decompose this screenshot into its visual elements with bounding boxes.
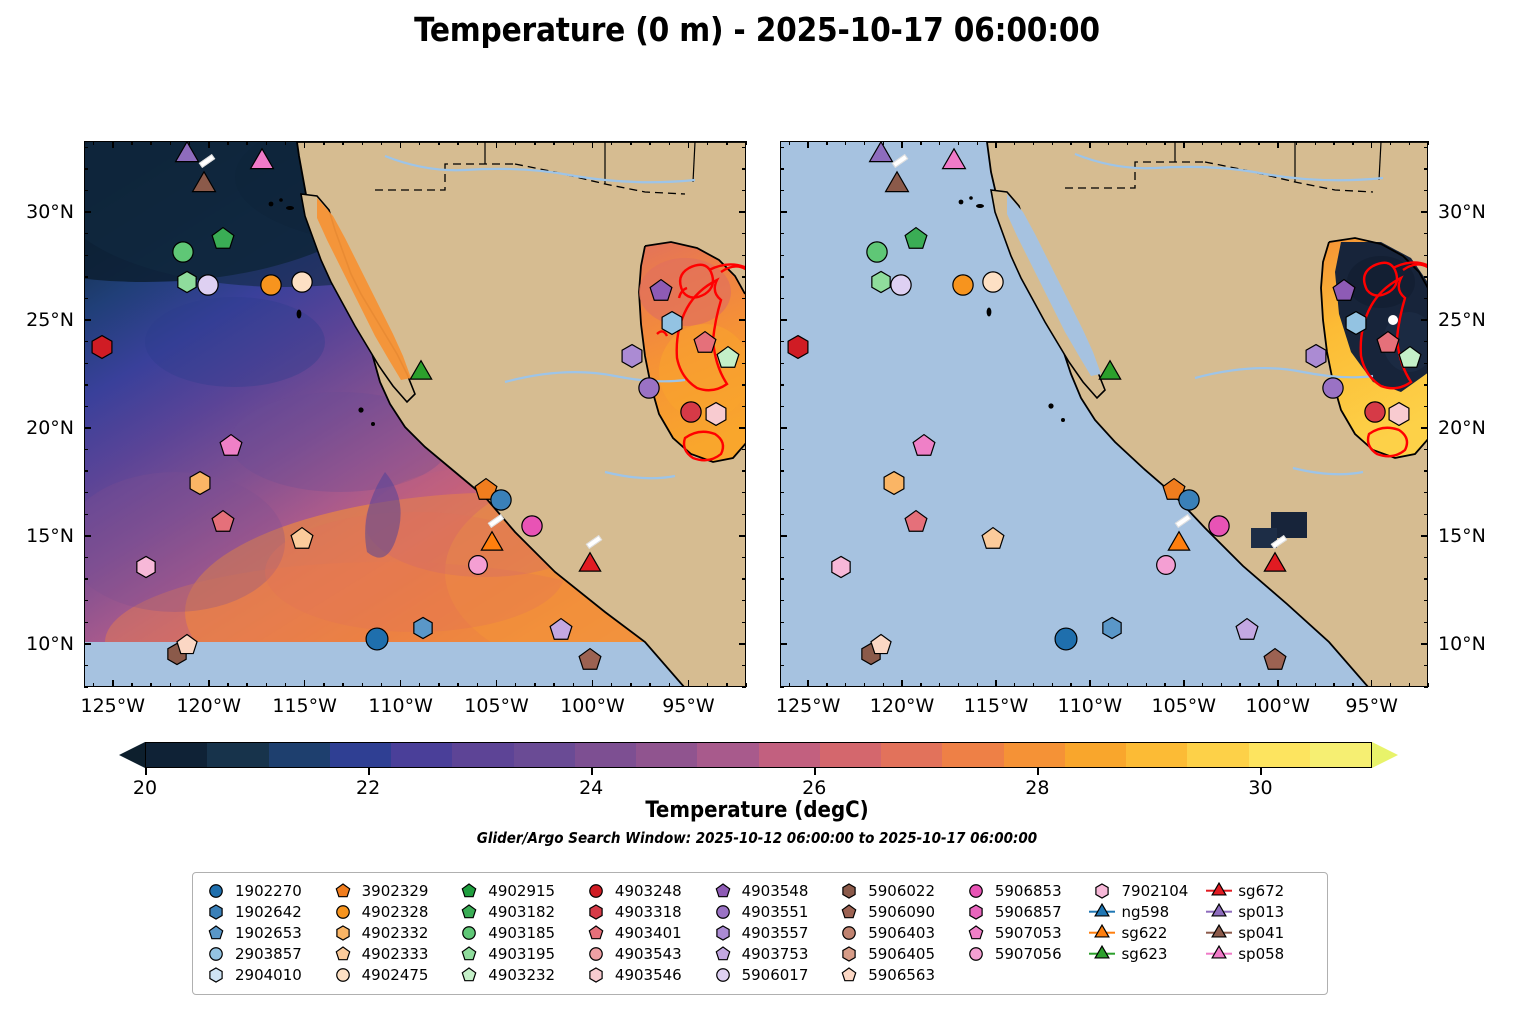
legend[interactable]: 1902270190264219026532903857290401039023… [192,872,1328,995]
observation-marker[interactable] [258,272,284,302]
legend-item[interactable]: 1902653 [203,923,330,942]
circle-marker-icon [1320,375,1346,401]
observation-marker[interactable] [363,625,391,657]
observation-marker[interactable] [715,345,741,375]
observation-marker[interactable] [939,147,969,181]
x-axis-minor-tick [1146,141,1147,145]
legend-item[interactable]: 5906403 [836,923,963,942]
observation-marker[interactable] [678,399,704,429]
x-axis-minor-tick [93,683,94,687]
observation-marker[interactable] [1261,551,1289,583]
legend-label: 5906403 [862,924,935,942]
y-axis-minor-tick [84,298,88,299]
x-axis-tick [688,680,690,687]
legend-item[interactable]: 4903551 [710,902,837,921]
colorbar-segment [391,743,452,767]
hexagon-marker-icon [659,310,685,336]
observation-marker[interactable] [980,269,1006,299]
x-axis-minor-tick [1315,683,1316,687]
x-axis-minor-tick [977,683,978,687]
hexagon-marker-icon [203,965,229,984]
observation-marker[interactable] [1100,616,1124,644]
observation-marker[interactable] [247,147,277,181]
x-axis-minor-tick [826,683,827,687]
legend-item[interactable]: 2904010 [203,965,330,984]
x-axis-minor-tick [419,683,420,687]
hexagon-marker-icon [1303,343,1329,369]
observation-marker[interactable] [218,433,244,463]
x-axis-minor-tick [789,141,790,145]
circle-marker-icon [488,487,514,513]
y-axis-minor-tick [780,449,784,450]
x-axis-minor-tick [1296,141,1297,145]
pentagon-marker-icon [548,617,574,643]
y-axis-tick [1421,211,1428,213]
legend-label: sg623 [1115,945,1167,963]
y-axis-tick [780,211,787,213]
colorbar-segment [759,743,820,767]
y-axis-minor-tick [84,147,88,148]
y-axis-minor-tick [1424,363,1428,364]
colorbar-segment [207,743,268,767]
x-axis-minor-tick [1352,141,1353,145]
triangle-marker-icon [1089,944,1115,963]
goes-map-canvas [781,142,1427,686]
x-axis-tick [1277,141,1279,148]
colorbar-tick-label: 24 [579,777,603,799]
legend-item[interactable]: 1902642 [203,902,330,921]
pentagon-marker-icon [1234,617,1260,643]
observation-marker[interactable] [577,647,603,677]
legend-item[interactable]: 4903753 [710,944,837,963]
legend-item[interactable]: 4903182 [456,902,583,921]
observation-marker[interactable] [411,616,435,644]
observation-marker[interactable] [195,272,221,302]
hexagon-marker-icon [203,902,229,921]
triangle-marker-icon [576,551,604,579]
x-axis-minor-tick [920,141,921,145]
x-axis-minor-tick [1258,683,1259,687]
x-axis-tick [1371,141,1373,148]
observation-marker[interactable] [1052,625,1080,657]
y-axis-minor-tick [742,168,746,169]
x-axis-minor-tick [1033,141,1034,145]
x-axis-minor-tick [246,141,247,145]
legend-item[interactable]: 4903548 [710,881,837,900]
x-axis-minor-tick [707,141,708,145]
legend-item[interactable]: 4902333 [330,944,457,963]
colorbar-segment [636,743,697,767]
x-axis-tick [304,141,306,148]
legend-item[interactable]: 4902475 [330,965,457,984]
observation-marker[interactable] [866,142,896,174]
legend-item[interactable]: 5906017 [710,965,837,984]
x-axis-minor-tick [515,141,516,145]
y-axis-minor-tick [742,255,746,256]
hexagon-marker-icon [1100,616,1124,640]
colorbar-segment [820,743,881,767]
observation-marker[interactable] [659,310,685,340]
y-axis-minor-tick [742,557,746,558]
x-axis-minor-tick [246,683,247,687]
y-axis-tick [1421,427,1428,429]
triangle-marker-icon [1165,530,1193,558]
x-axis-tick [1371,680,1373,687]
x-axis-minor-tick [920,683,921,687]
colorbar-segment [1249,743,1310,767]
observation-marker[interactable] [619,343,645,373]
legend-item[interactable]: 4903401 [583,923,710,942]
y-axis-minor-tick [1424,255,1428,256]
x-axis-minor-tick [285,683,286,687]
observation-marker[interactable] [576,551,604,583]
observation-marker[interactable] [210,226,236,256]
x-axis-minor-tick [1164,683,1165,687]
observation-marker[interactable] [488,487,514,517]
legend-item[interactable]: ng598 [1089,902,1206,921]
circle-marker-icon [203,944,229,963]
x-axis-tick [901,680,903,687]
legend-item[interactable]: 4902328 [330,902,457,921]
hexagon-marker-icon [1089,881,1115,900]
legend-label: 4903546 [609,966,682,984]
legend-item[interactable]: sg672 [1206,881,1317,900]
colorbar-body [145,742,1372,768]
x-axis-tick [688,141,690,148]
pentagon-marker-icon [715,345,741,371]
legend-item[interactable]: 4902332 [330,923,457,942]
observation-marker[interactable] [175,633,199,661]
legend-item[interactable]: sp041 [1206,923,1317,942]
y-axis-tick [84,211,91,213]
legend-item[interactable]: sp013 [1206,902,1317,921]
x-axis-minor-tick [1164,141,1165,145]
colorbar-segment [942,743,1003,767]
y-axis-minor-tick [84,470,88,471]
x-axis-minor-tick [534,141,535,145]
y-axis-minor-tick [780,276,784,277]
y-axis-minor-tick [84,557,88,558]
colorbar-title: Temperature (degC) [0,798,1514,823]
legend-label: 4903248 [609,882,682,900]
map-panel-rtofs[interactable]: RTOFS [84,141,746,687]
triangle-marker-icon [407,359,435,387]
legend-item[interactable]: 4902915 [456,881,583,900]
x-axis-minor-tick [864,683,865,687]
y-axis-minor-tick [780,255,784,256]
legend-item[interactable]: 3902329 [330,881,457,900]
legend-item[interactable]: 2903857 [203,944,330,963]
observation-marker[interactable] [1386,401,1412,431]
x-axis-minor-tick [883,683,884,687]
observation-marker[interactable] [519,513,545,543]
y-axis-tick [1421,643,1428,645]
legend-item[interactable]: sg622 [1089,923,1206,942]
triangle-marker-icon [1206,923,1232,942]
x-axis-minor-tick [745,141,746,145]
colorbar-segment [1187,743,1248,767]
y-axis-minor-tick [1424,578,1428,579]
colorbar-extend-high [1372,742,1398,768]
x-axis-minor-tick [1052,683,1053,687]
pentagon-marker-icon [456,881,482,900]
x-axis-minor-tick [323,683,324,687]
legend-item[interactable]: 4903318 [583,902,710,921]
pentagon-marker-icon [175,633,199,657]
legend-label: 4903548 [736,882,809,900]
x-axis-minor-tick [630,141,631,145]
observation-marker[interactable] [911,433,937,463]
x-axis-minor-tick [189,141,190,145]
x-axis-minor-tick [477,141,478,145]
observation-marker[interactable] [882,170,912,204]
observation-marker[interactable] [289,269,315,299]
legend-item[interactable]: 4903248 [583,881,710,900]
observation-marker[interactable] [881,470,907,500]
y-axis-minor-tick [1424,276,1428,277]
observation-marker[interactable] [187,470,213,500]
colorbar-segment [697,743,758,767]
x-axis-tick [995,141,997,148]
observation-marker[interactable] [210,509,236,539]
legend-item[interactable]: 5906853 [963,881,1090,900]
legend-label: 4903195 [482,945,555,963]
observation-marker[interactable] [189,170,219,204]
observation-marker[interactable] [1096,359,1124,391]
pentagon-marker-icon [710,944,736,963]
observation-marker[interactable] [1303,343,1329,373]
legend-item[interactable]: 5907056 [963,944,1090,963]
x-axis-minor-tick [1221,683,1222,687]
x-axis-minor-tick [726,683,727,687]
y-axis-minor-tick [1424,384,1428,385]
y-axis-minor-tick [742,600,746,601]
colorbar-segment [514,743,575,767]
legend-item[interactable]: 4903232 [456,965,583,984]
x-axis-minor-tick [362,141,363,145]
legend-item[interactable]: 4903195 [456,944,583,963]
colorbar-segment [1310,743,1371,767]
x-axis-minor-tick [477,683,478,687]
colorbar-tick-label: 26 [802,777,826,799]
y-axis-minor-tick [780,147,784,148]
observation-marker[interactable] [1320,375,1346,405]
x-axis-label: 95°W [1345,695,1397,717]
legend-item[interactable]: sg623 [1089,944,1206,963]
y-axis-minor-tick [780,665,784,666]
legend-label: 4902915 [482,882,555,900]
observation-marker[interactable] [903,226,929,256]
y-axis-minor-tick [1424,470,1428,471]
rtofs-sst-field [85,142,745,686]
x-axis-tick [400,141,402,148]
x-axis-minor-tick [1014,141,1015,145]
x-axis-minor-tick [1390,141,1391,145]
observation-marker[interactable] [1262,647,1288,677]
observation-marker[interactable] [1397,345,1423,375]
hexagon-marker-icon [330,923,356,942]
x-axis-minor-tick [1390,683,1391,687]
observation-marker[interactable] [888,272,914,302]
y-axis-minor-tick [742,341,746,342]
pentagon-marker-icon [1262,647,1288,673]
legend-item[interactable]: 1902270 [203,881,330,900]
y-axis-minor-tick [780,600,784,601]
circle-marker-icon [1052,625,1080,653]
legend-column-1: 39023294902328490233249023334902475 [330,881,457,984]
x-axis-minor-tick [864,141,865,145]
observation-marker[interactable] [703,401,729,431]
x-axis-tick [995,680,997,687]
legend-item[interactable]: 7902104 [1089,881,1206,900]
observation-marker[interactable] [869,633,893,661]
observation-marker[interactable] [478,530,506,562]
x-axis-tick [1277,680,1279,687]
x-axis-minor-tick [1409,141,1410,145]
y-axis-minor-tick [780,233,784,234]
x-axis-tick [496,680,498,687]
circle-marker-icon [1206,513,1232,539]
y-axis-minor-tick [84,384,88,385]
circle-marker-icon [710,902,736,921]
hexagon-marker-icon [583,902,609,921]
y-axis-tick [739,643,746,645]
x-axis-minor-tick [1409,683,1410,687]
legend-item[interactable]: 5906405 [836,944,963,963]
legend-item[interactable]: sp058 [1206,944,1317,963]
x-axis-minor-tick [419,141,420,145]
circle-marker-icon [678,399,704,425]
legend-item[interactable]: 4903185 [456,923,583,942]
legend-label: 5906853 [989,882,1062,900]
colorbar-segment [452,743,513,767]
legend-item[interactable]: 4903557 [710,923,837,942]
hexagon-marker-icon [134,555,158,579]
legend-label: 5906017 [736,966,809,984]
y-axis-minor-tick [1424,190,1428,191]
x-axis-tick [496,141,498,148]
y-axis-tick [84,643,91,645]
map-panel-goes[interactable]: GOES [780,141,1428,687]
x-axis-minor-tick [150,141,151,145]
x-axis-minor-tick [630,683,631,687]
observation-marker[interactable] [289,526,315,556]
x-axis-minor-tick [1014,683,1015,687]
circle-marker-icon [963,944,989,963]
pentagon-marker-icon [911,433,937,459]
legend-item[interactable]: 4903543 [583,944,710,963]
legend-item[interactable]: 5907053 [963,923,1090,942]
pentagon-marker-icon [583,923,609,942]
observation-marker[interactable] [785,334,811,364]
y-axis-label: 25°N [1438,309,1486,331]
circle-marker-icon [583,944,609,963]
x-axis-minor-tick [457,141,458,145]
observation-marker[interactable] [980,526,1006,556]
legend-label: 3902329 [356,882,429,900]
observation-marker[interactable] [1176,487,1202,517]
x-axis-minor-tick [845,683,846,687]
search-window-text: Glider/Argo Search Window: 2025-10-12 06… [0,829,1514,847]
legend-label: sg672 [1232,882,1284,900]
colorbar-segment [1126,743,1187,767]
legend-item[interactable]: 5906022 [836,881,963,900]
observation-marker[interactable] [636,375,662,405]
x-axis-minor-tick [1202,683,1203,687]
observation-marker[interactable] [172,142,202,174]
circle-marker-icon [363,625,391,653]
circle-marker-icon [330,965,356,984]
legend-item[interactable]: 5906857 [963,902,1090,921]
x-axis-minor-tick [1427,141,1428,145]
colorbar-segment [330,743,391,767]
x-axis-tick [807,680,809,687]
x-axis-tick [1089,141,1091,148]
colorbar-tick-label: 20 [133,777,157,799]
y-axis-minor-tick [84,341,88,342]
y-axis-tick [739,427,746,429]
observation-marker[interactable] [1206,513,1232,543]
hexagon-marker-icon [411,616,435,640]
legend-label: 4903401 [609,924,682,942]
x-axis-minor-tick [826,141,827,145]
observation-marker[interactable] [864,239,890,269]
observation-marker[interactable] [134,555,158,583]
y-axis-minor-tick [742,686,746,687]
y-axis-minor-tick [780,384,784,385]
observation-marker[interactable] [829,555,853,583]
y-axis-minor-tick [780,686,784,687]
observation-marker[interactable] [89,334,115,364]
colorbar[interactable]: 202224262830 [119,742,1398,768]
legend-item[interactable]: 4903546 [583,965,710,984]
observation-marker[interactable] [548,617,574,647]
y-axis-minor-tick [742,147,746,148]
colorbar-segment [1004,743,1065,767]
observation-marker[interactable] [1331,278,1357,308]
pentagon-marker-icon [218,433,244,459]
x-axis-minor-tick [534,683,535,687]
pentagon-marker-icon [1331,278,1357,304]
x-axis-minor-tick [285,141,286,145]
pentagon-marker-icon [963,923,989,942]
observation-marker[interactable] [1343,310,1369,340]
observation-marker[interactable] [1165,530,1193,562]
legend-item[interactable]: 5906563 [836,965,963,984]
pentagon-marker-icon [648,278,674,304]
x-axis-minor-tick [1258,141,1259,145]
goes-sst-field [781,142,1427,686]
observation-marker[interactable] [170,239,196,269]
observation-marker[interactable] [950,272,976,302]
y-axis-minor-tick [780,363,784,364]
y-axis-minor-tick [742,276,746,277]
legend-item[interactable]: 5906090 [836,902,963,921]
observation-marker[interactable] [903,509,929,539]
y-axis-label: 20°N [0,417,74,439]
x-axis-minor-tick [939,683,940,687]
y-axis-minor-tick [742,514,746,515]
observation-marker[interactable] [1362,399,1388,429]
observation-marker[interactable] [648,278,674,308]
observation-marker[interactable] [407,359,435,391]
legend-column-2: 49029154903182490318549031954903232 [456,881,583,984]
x-axis-minor-tick [611,141,612,145]
y-axis-minor-tick [780,470,784,471]
x-axis-minor-tick [649,141,650,145]
x-axis-minor-tick [573,141,574,145]
observation-marker[interactable] [1234,617,1260,647]
